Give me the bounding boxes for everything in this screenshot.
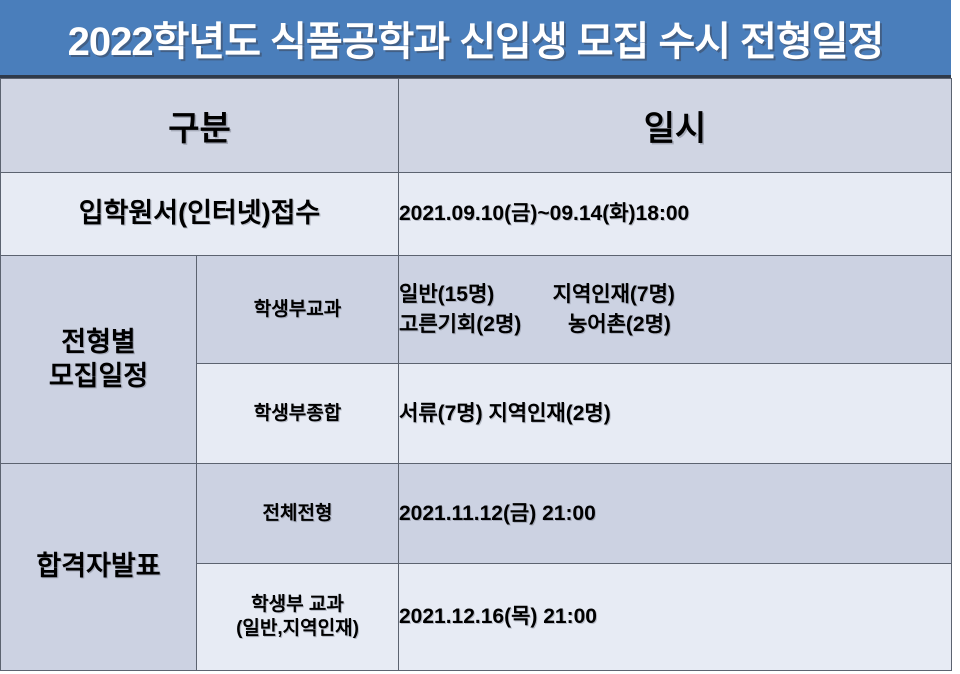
row-value-comprehensive: 서류(7명) 지역인재(2명) — [399, 364, 952, 464]
table-header-row: 구분 일시 — [1, 79, 952, 173]
table-row: 합격자발표 전체전형 2021.11.12(금) 21:00 — [1, 464, 952, 564]
table-row: 입학원서(인터넷)접수 2021.09.10(금)~09.14(화)18:00 — [1, 173, 952, 256]
column-header-datetime: 일시 — [399, 79, 952, 173]
row-value-all-tracks: 2021.11.12(금) 21:00 — [399, 464, 952, 564]
page-title: 2022학년도 식품공학과 신입생 모집 수시 전형일정 — [68, 9, 884, 67]
row-subcategory-comprehensive: 학생부종합 — [197, 364, 399, 464]
row-category-announcement: 합격자발표 — [1, 464, 197, 671]
row-value-application: 2021.09.10(금)~09.14(화)18:00 — [399, 173, 952, 256]
row-subcategory-subject-record-general: 학생부 교과(일반,지역인재) — [197, 564, 399, 671]
table-row: 전형별모집일정 학생부교과 일반(15명) 지역인재(7명)고른기회(2명) 농… — [1, 256, 952, 364]
row-value-subject-record: 일반(15명) 지역인재(7명)고른기회(2명) 농어촌(2명) — [399, 256, 952, 364]
row-subcategory-subject-record: 학생부교과 — [197, 256, 399, 364]
row-value-subject-record-general: 2021.12.16(목) 21:00 — [399, 564, 952, 671]
quota-line-2: 고른기회(2명) 농어촌(2명) — [399, 313, 671, 336]
row-category-application: 입학원서(인터넷)접수 — [1, 173, 399, 256]
column-header-category: 구분 — [1, 79, 399, 173]
row-category-track-schedule: 전형별모집일정 — [1, 256, 197, 464]
admissions-schedule-table: 구분 일시 입학원서(인터넷)접수 2021.09.10(금)~09.14(화)… — [0, 78, 952, 671]
poster-title-bar: 2022학년도 식품공학과 신입생 모집 수시 전형일정 — [0, 0, 951, 78]
row-subcategory-all-tracks: 전체전형 — [197, 464, 399, 564]
quota-line-1: 일반(15명) 지역인재(7명) — [399, 283, 675, 306]
schedule-poster: 2022학년도 식품공학과 신입생 모집 수시 전형일정 구분 일시 입학원서(… — [0, 0, 960, 674]
